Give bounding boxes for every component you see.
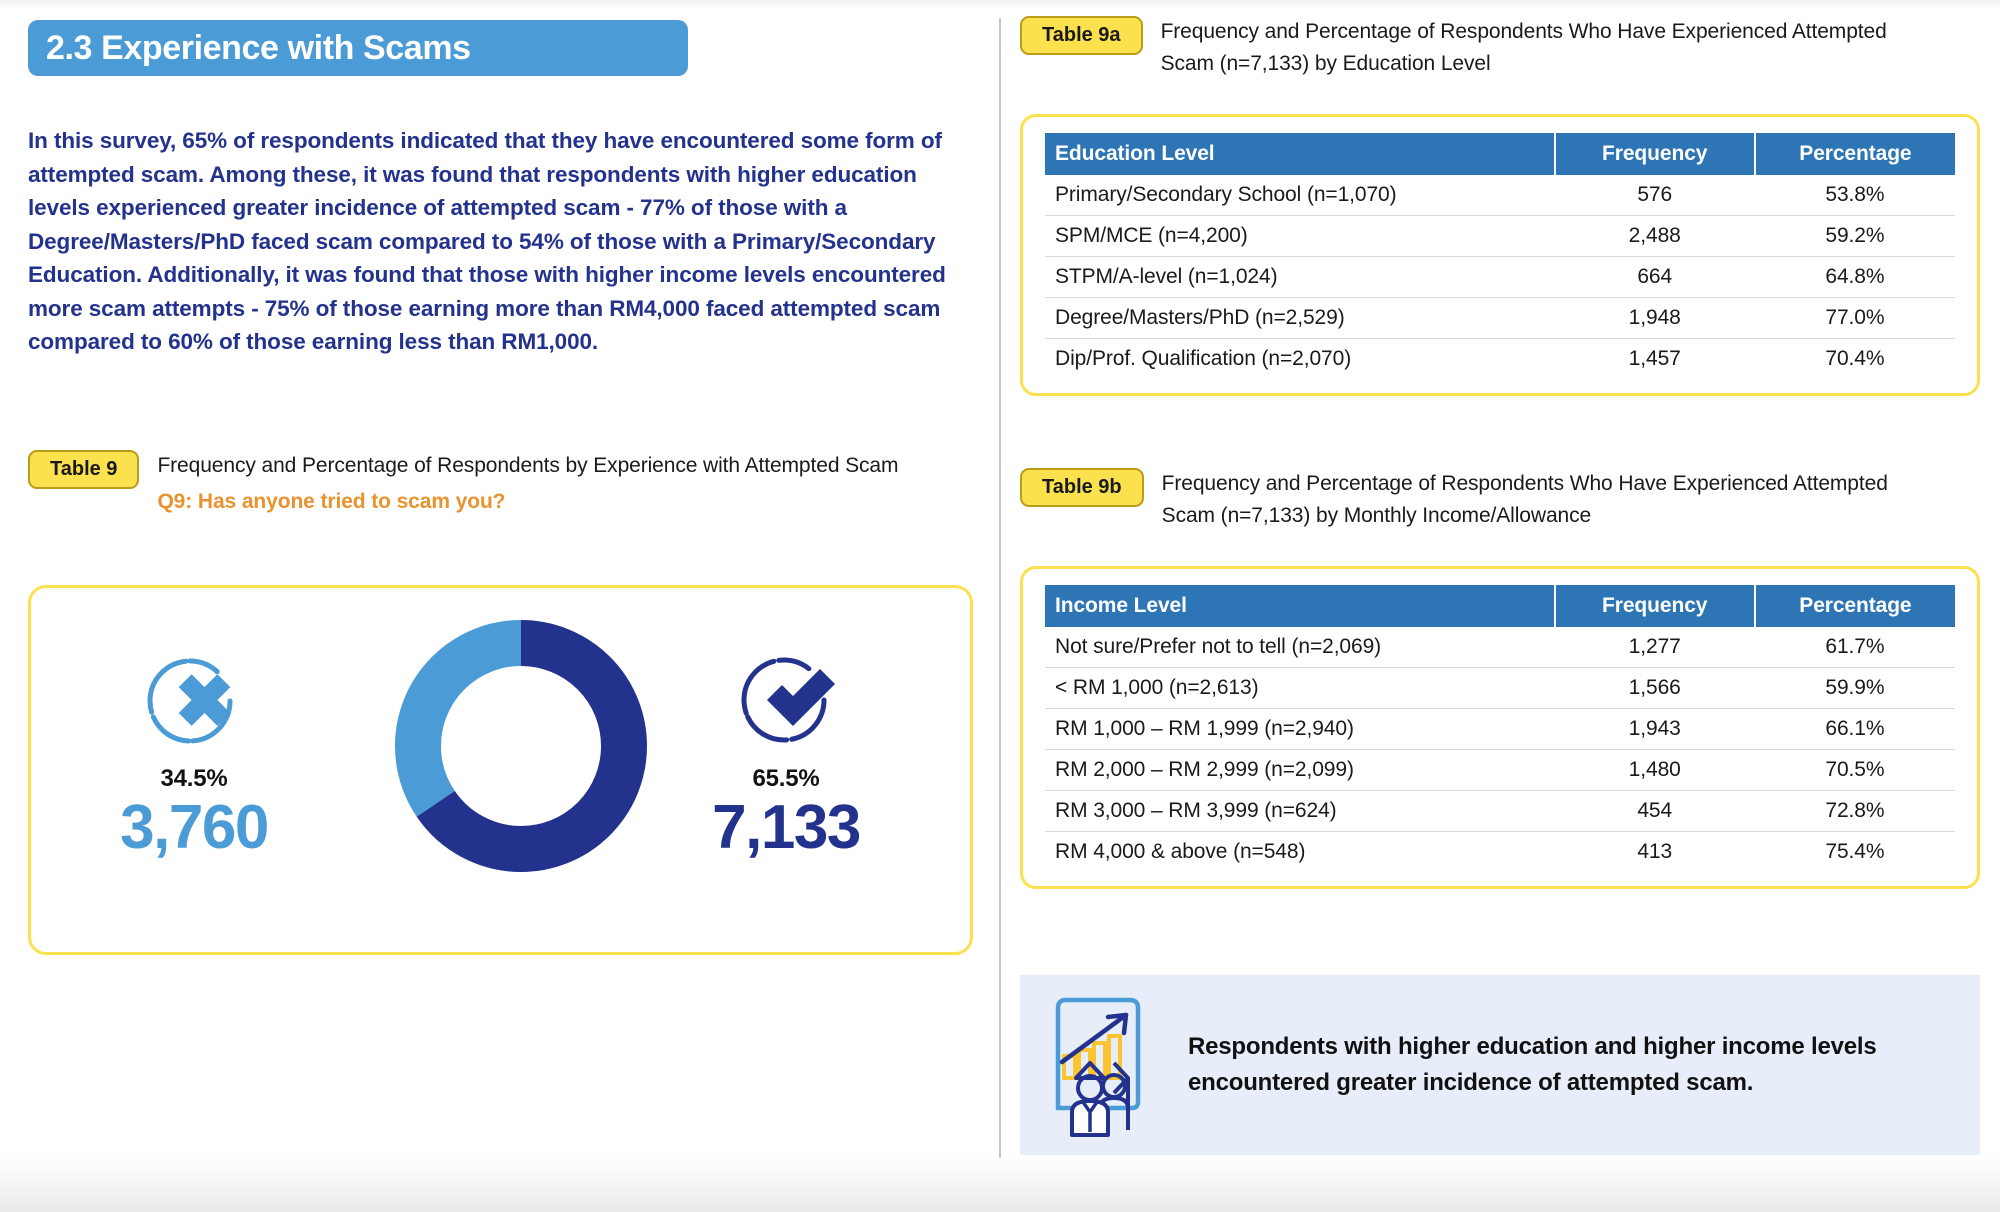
stat-yes-value: 7,133 (671, 795, 901, 860)
cross-circle-icon (79, 643, 309, 751)
table-row: RM 1,000 – RM 1,999 (n=2,940) 1,943 66.1… (1045, 709, 1955, 750)
table-row: RM 4,000 & above (n=548) 413 75.4% (1045, 832, 1955, 873)
cell-frequency: 1,480 (1555, 750, 1755, 791)
cell-label: RM 3,000 – RM 3,999 (n=624) (1045, 791, 1555, 832)
cell-percentage: 72.8% (1755, 791, 1955, 832)
cell-label: STPM/A-level (n=1,024) (1045, 257, 1555, 298)
cell-frequency: 1,948 (1555, 298, 1755, 339)
table9b-card: Income Level Frequency Percentage Not su… (1020, 566, 1980, 889)
table-row: STPM/A-level (n=1,024) 664 64.8% (1045, 257, 1955, 298)
growth-chart-people-icon (1046, 990, 1156, 1140)
table9-caption-text: Frequency and Percentage of Respondents … (157, 454, 898, 477)
cell-frequency: 454 (1555, 791, 1755, 832)
donut-chart-card: 34.5% 3,760 (28, 585, 973, 955)
cell-label: SPM/MCE (n=4,200) (1045, 216, 1555, 257)
cell-frequency: 1,277 (1555, 627, 1755, 668)
cell-frequency: 664 (1555, 257, 1755, 298)
cell-percentage: 75.4% (1755, 832, 1955, 873)
table9a-col-frequency: Frequency (1555, 133, 1755, 175)
stat-yes-scam: 65.5% 7,133 (671, 643, 901, 860)
table9a-col-label: Education Level (1045, 133, 1555, 175)
table-row: Degree/Masters/PhD (n=2,529) 1,948 77.0% (1045, 298, 1955, 339)
cell-frequency: 1,566 (1555, 668, 1755, 709)
intro-paragraph: In this survey, 65% of respondents indic… (28, 124, 973, 359)
table9a-badge: Table 9a (1020, 16, 1143, 55)
table9b-header-row: Income Level Frequency Percentage (1045, 585, 1955, 627)
right-column: Table 9a Frequency and Percentage of Res… (1000, 0, 2000, 1212)
cell-label: Primary/Secondary School (n=1,070) (1045, 175, 1555, 216)
cell-frequency: 576 (1555, 175, 1755, 216)
stat-yes-percent: 65.5% (671, 765, 901, 793)
page-title: 2.3 Experience with Scams (46, 29, 471, 68)
cell-percentage: 53.8% (1755, 175, 1955, 216)
table9a-card: Education Level Frequency Percentage Pri… (1020, 114, 1980, 396)
table9a-header-row: Education Level Frequency Percentage (1045, 133, 1955, 175)
stat-no-percent: 34.5% (79, 765, 309, 793)
cell-label: RM 2,000 – RM 2,999 (n=2,099) (1045, 750, 1555, 791)
cell-percentage: 70.5% (1755, 750, 1955, 791)
table-row: Dip/Prof. Qualification (n=2,070) 1,457 … (1045, 339, 1955, 380)
section-title-banner: 2.3 Experience with Scams (28, 20, 688, 76)
table9b-caption-text: Frequency and Percentage of Respondents … (1162, 468, 1922, 532)
table-row: Not sure/Prefer not to tell (n=2,069) 1,… (1045, 627, 1955, 668)
table9a-caption-text: Frequency and Percentage of Respondents … (1161, 16, 1921, 80)
table9b-col-label: Income Level (1045, 585, 1555, 627)
cell-label: RM 1,000 – RM 1,999 (n=2,940) (1045, 709, 1555, 750)
table9-question: Q9: Has anyone tried to scam you? (157, 486, 898, 518)
cell-frequency: 413 (1555, 832, 1755, 873)
insight-callout: Respondents with higher education and hi… (1020, 975, 1980, 1155)
donut-chart (381, 606, 661, 886)
table-row: SPM/MCE (n=4,200) 2,488 59.2% (1045, 216, 1955, 257)
table-row: RM 3,000 – RM 3,999 (n=624) 454 72.8% (1045, 791, 1955, 832)
cell-percentage: 61.7% (1755, 627, 1955, 668)
table-row: < RM 1,000 (n=2,613) 1,566 59.9% (1045, 668, 1955, 709)
cell-percentage: 64.8% (1755, 257, 1955, 298)
table9-caption-row: Table 9 Frequency and Percentage of Resp… (28, 450, 973, 518)
table9b-caption-row: Table 9b Frequency and Percentage of Res… (1020, 468, 1980, 532)
table9a: Education Level Frequency Percentage Pri… (1045, 133, 1955, 379)
insight-callout-text: Respondents with higher education and hi… (1188, 1029, 1980, 1101)
cell-frequency: 1,457 (1555, 339, 1755, 380)
table-row: Primary/Secondary School (n=1,070) 576 5… (1045, 175, 1955, 216)
cell-percentage: 70.4% (1755, 339, 1955, 380)
left-column: 2.3 Experience with Scams In this survey… (0, 0, 999, 1212)
stat-no-scam: 34.5% 3,760 (79, 643, 309, 860)
table9b-col-percentage: Percentage (1755, 585, 1955, 627)
cell-label: RM 4,000 & above (n=548) (1045, 832, 1555, 873)
table9-badge: Table 9 (28, 450, 139, 489)
stat-no-value: 3,760 (79, 795, 309, 860)
check-circle-icon (671, 643, 901, 751)
cell-label: Dip/Prof. Qualification (n=2,070) (1045, 339, 1555, 380)
cell-label: Degree/Masters/PhD (n=2,529) (1045, 298, 1555, 339)
cell-percentage: 59.2% (1755, 216, 1955, 257)
table-row: RM 2,000 – RM 2,999 (n=2,099) 1,480 70.5… (1045, 750, 1955, 791)
cell-frequency: 1,943 (1555, 709, 1755, 750)
cell-percentage: 66.1% (1755, 709, 1955, 750)
table9b: Income Level Frequency Percentage Not su… (1045, 585, 1955, 872)
cell-label: < RM 1,000 (n=2,613) (1045, 668, 1555, 709)
cell-frequency: 2,488 (1555, 216, 1755, 257)
report-page: 2.3 Experience with Scams In this survey… (0, 0, 2000, 1212)
cell-percentage: 77.0% (1755, 298, 1955, 339)
table9a-caption-row: Table 9a Frequency and Percentage of Res… (1020, 16, 1980, 80)
table9a-col-percentage: Percentage (1755, 133, 1955, 175)
table9-caption-block: Frequency and Percentage of Respondents … (157, 450, 898, 518)
table9b-col-frequency: Frequency (1555, 585, 1755, 627)
cell-percentage: 59.9% (1755, 668, 1955, 709)
cell-label: Not sure/Prefer not to tell (n=2,069) (1045, 627, 1555, 668)
table9b-badge: Table 9b (1020, 468, 1144, 507)
